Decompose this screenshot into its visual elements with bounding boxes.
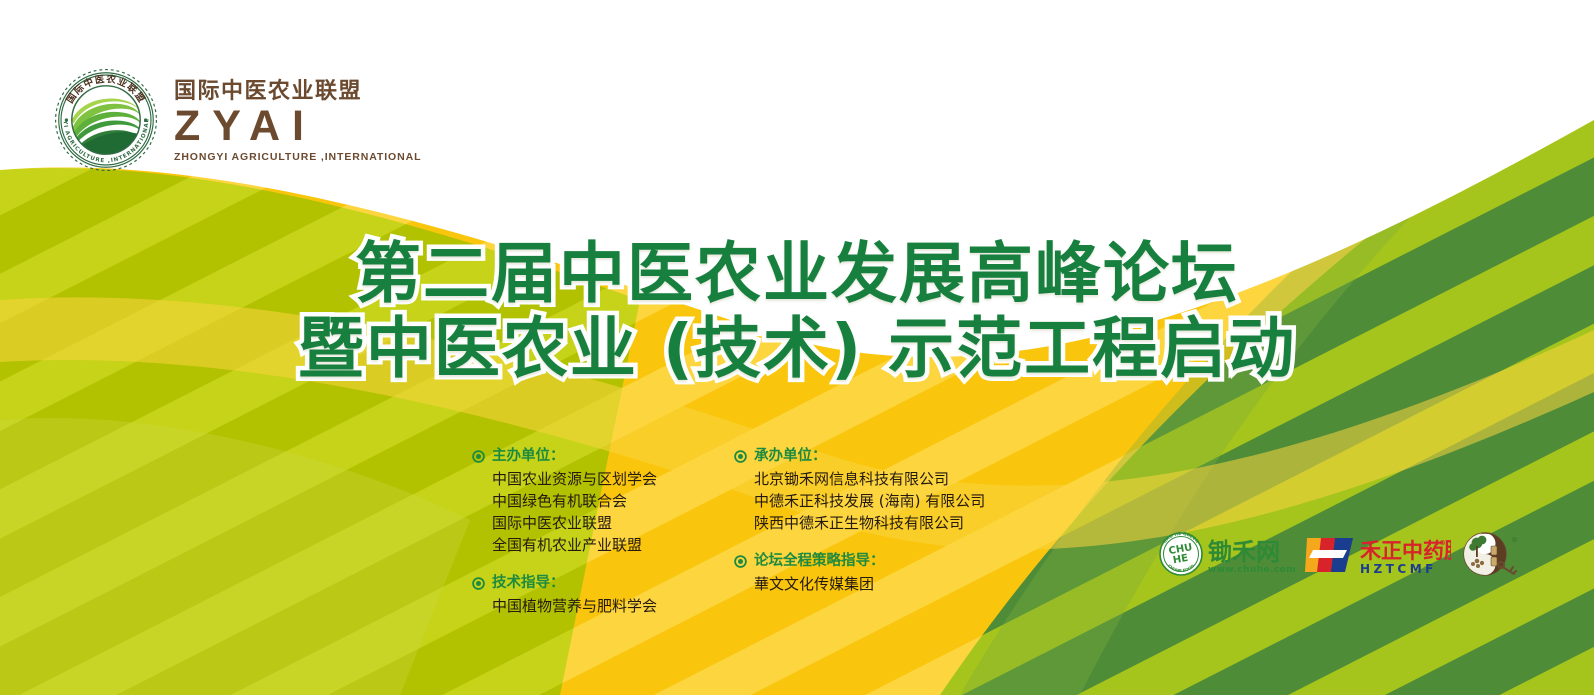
zyai-chinese-name: 国际中医农业联盟 [174, 81, 421, 103]
organizer-heading: 论坛全程策略指导： [754, 552, 885, 572]
organizer-heading-row: 承办单位： [734, 447, 1064, 467]
chuhe-round-logo-icon: CHU HE GREEN CHUHE FOOD CHU HE 锄禾网 www.c… [1155, 528, 1295, 580]
organizer-item: 国际中医农业联盟 [492, 512, 734, 534]
organizer-heading: 技术指导： [492, 574, 565, 594]
organizer-column-right: 承办单位： 北京锄禾网信息科技有限公司 中德禾正科技发展 (海南) 有限公司 陕… [734, 447, 1064, 635]
svg-text:www.chuhe.com: www.chuhe.com [1208, 565, 1295, 575]
organizer-item: 北京锄禾网信息科技有限公司 [754, 468, 1064, 490]
zyai-wordmark: 国际中医农业联盟 ZYAI ZHONGYI AGRICULTURE ,INTER… [174, 77, 421, 163]
organizer-heading: 承办单位： [754, 447, 827, 467]
organizer-item: 中国绿色有机联合会 [492, 490, 734, 512]
organizer-group: 主办单位： 中国农业资源与区划学会 中国绿色有机联合会 国际中医农业联盟 全国有… [472, 447, 734, 556]
organizer-heading-row: 论坛全程策略指导： [734, 552, 1064, 572]
organizer-heading: 主办单位： [492, 447, 565, 467]
bullet-dot-icon [734, 450, 747, 463]
organizer-heading-row: 技术指导： [472, 574, 734, 594]
zyai-acronym: ZYAI [174, 105, 421, 148]
svg-text:HZTCMF: HZTCMF [1360, 562, 1437, 576]
hztcmf-logo-icon: 禾正中药肥 ® HZTCMF [1305, 530, 1451, 578]
conference-banner: 国际中医农业联盟 ZHONGYI AGRICULTURE ,INTERNATIO… [0, 0, 1594, 695]
organizer-item-list: 中国农业资源与区划学会 中国绿色有机联合会 国际中医农业联盟 全国有机农业产业联… [492, 468, 734, 557]
organizer-item-list: 中国植物营养与肥料学会 [492, 595, 734, 617]
organizer-item: 陕西中德禾正生物科技有限公司 [754, 512, 1064, 534]
organizer-group: 技术指导： 中国植物营养与肥料学会 [472, 574, 734, 617]
organizer-heading-row: 主办单位： [472, 447, 734, 467]
organizer-item: 中国农业资源与区划学会 [492, 468, 734, 490]
organizer-item: 中德禾正科技发展 (海南) 有限公司 [754, 490, 1064, 512]
organizer-columns: 主办单位： 中国农业资源与区划学会 中国绿色有机联合会 国际中医农业联盟 全国有… [472, 447, 1064, 635]
organizer-item: 全国有机农业产业联盟 [492, 534, 734, 556]
organizer-item-list: 華文文化传媒集团 [754, 573, 1064, 595]
zyai-english-name: ZHONGYI AGRICULTURE ,INTERNATIONAL [174, 152, 421, 163]
svg-text:®: ® [1439, 539, 1446, 547]
organizer-item: 華文文化传媒集团 [754, 573, 1064, 595]
organizer-item: 中国植物营养与肥料学会 [492, 595, 734, 617]
organizer-column-left: 主办单位： 中国农业资源与区划学会 中国绿色有机联合会 国际中医农业联盟 全国有… [472, 447, 734, 635]
svg-text:®: ® [1511, 536, 1518, 544]
organizer-group: 论坛全程策略指导： 華文文化传媒集团 [734, 552, 1064, 595]
bullet-dot-icon [734, 555, 747, 568]
bullet-dot-icon [472, 450, 485, 463]
zyai-logo: 国际中医农业联盟 ZHONGYI AGRICULTURE ,INTERNATIO… [52, 66, 421, 174]
sponsor-logo-row: CHU HE GREEN CHUHE FOOD CHU HE 锄禾网 www.c… [1155, 528, 1519, 580]
svg-text:锄禾网: 锄禾网 [1208, 538, 1280, 566]
organizer-group: 承办单位： 北京锄禾网信息科技有限公司 中德禾正科技发展 (海南) 有限公司 陕… [734, 447, 1064, 534]
bullet-dot-icon [472, 577, 485, 590]
zyai-emblem-icon: 国际中医农业联盟 ZHONGYI AGRICULTURE ,INTERNATIO… [52, 66, 160, 174]
organizer-item-list: 北京锄禾网信息科技有限公司 中德禾正科技发展 (海南) 有限公司 陕西中德禾正生… [754, 468, 1064, 535]
svg-text:禾正中药肥: 禾正中药肥 [1360, 539, 1451, 563]
yinyang-tree-logo-icon: ® [1461, 528, 1519, 580]
